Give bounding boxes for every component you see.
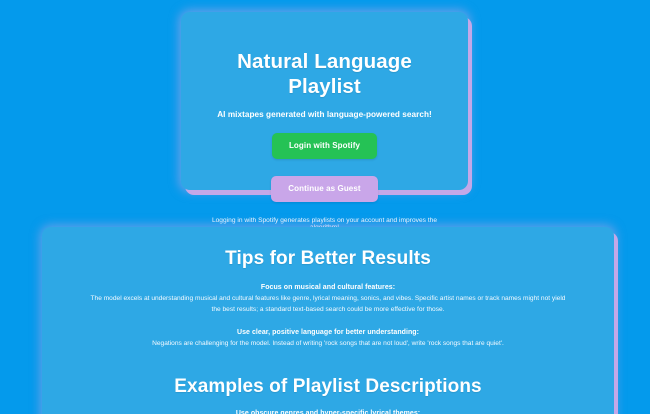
example-heading: Use obscure genres and hyper-specific ly… bbox=[68, 410, 588, 414]
example-item: Use obscure genres and hyper-specific ly… bbox=[68, 410, 588, 414]
tip-body: Negations are challenging for the model.… bbox=[68, 339, 588, 349]
login-card: Natural Language Playlist AI mixtapes ge… bbox=[181, 12, 468, 190]
page-subtitle: AI mixtapes generated with language-powe… bbox=[201, 110, 448, 119]
tip-heading: Focus on musical and cultural features: bbox=[68, 283, 588, 292]
page-title: Natural Language Playlist bbox=[201, 50, 448, 99]
guest-button-group: Continue as Guest bbox=[201, 159, 448, 202]
tip-item: Focus on musical and cultural features: … bbox=[68, 283, 588, 315]
app-page: Natural Language Playlist AI mixtapes ge… bbox=[0, 0, 650, 414]
tips-section-title: Tips for Better Results bbox=[68, 248, 588, 270]
tips-and-examples-card: Tips for Better Results Focus on musical… bbox=[42, 227, 614, 414]
continue-as-guest-button[interactable]: Continue as Guest bbox=[271, 176, 377, 202]
auth-button-group: Login with Spotify bbox=[201, 133, 448, 159]
tip-body: The model excels at understanding musica… bbox=[68, 294, 588, 314]
examples-section-title: Examples of Playlist Descriptions bbox=[68, 376, 588, 398]
tip-heading: Use clear, positive language for better … bbox=[68, 328, 588, 337]
tip-item: Use clear, positive language for better … bbox=[68, 328, 588, 350]
login-with-spotify-button[interactable]: Login with Spotify bbox=[272, 133, 377, 159]
